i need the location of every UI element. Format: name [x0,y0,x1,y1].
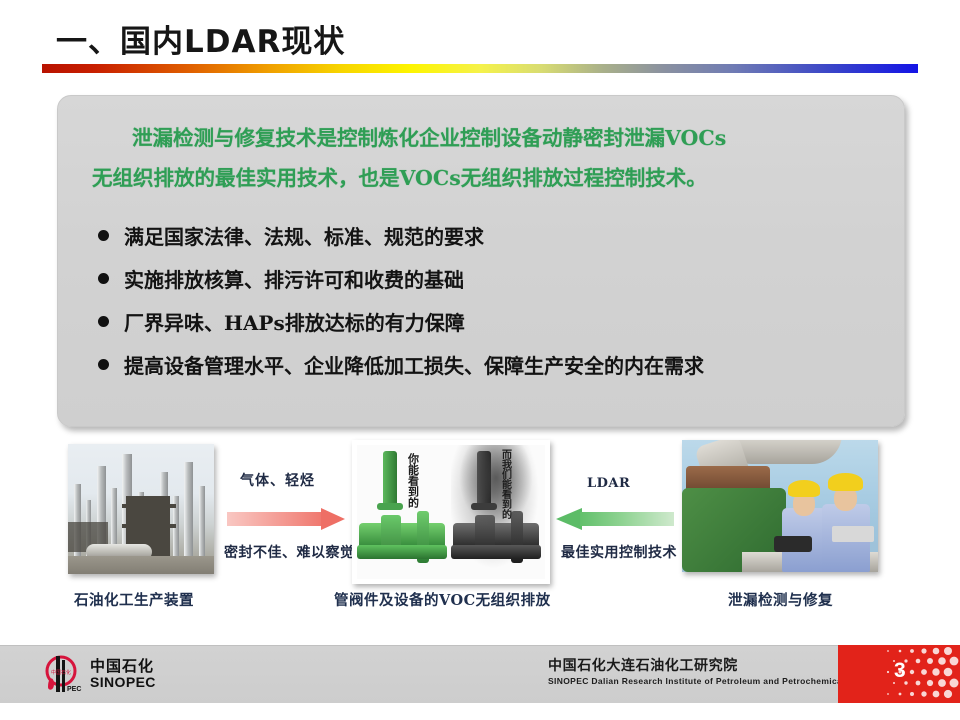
list-item: 满足国家法律、法规、标准、规范的要求 [98,214,888,257]
bullet-text: 提高设备管理水平、企业降低加工损失、保障生产安全的内在需求 [124,350,704,379]
slide-root: 一、国内LDAR现状 泄漏检测与修复技术是控制炼化企业控制设备动静密封泄漏VOC… [0,0,960,720]
intro-line-1: 泄漏检测与修复技术是控制炼化企业控制设备动静密封泄漏VOCs [132,126,726,150]
bullet-text: 厂界异味、HAPs排放达标的有力保障 [124,307,465,336]
valve-image: 你能看到的 而我们能看到的 [357,445,545,579]
refinery-photo [68,444,214,574]
list-item: 实施排放核算、排污许可和收费的基础 [98,257,888,300]
sinopec-emblem-icon: 中国石化 PEC [40,654,82,694]
bullet-dot-icon [98,359,109,370]
list-item: 提高设备管理水平、企业降低加工损失、保障生产安全的内在需求 [98,343,888,386]
institute-name-en: SINOPEC Dalian Research Institute of Pet… [548,676,850,686]
bullet-text: 实施排放核算、排污许可和收费的基础 [124,264,464,293]
inspection-photo [682,440,878,572]
arrow-right-top-label: 气体、轻烃 [240,470,315,490]
arrow-left-bottom-label: 最佳实用控制技术 [561,542,677,562]
arrow-left-top-label: LDAR [587,476,630,491]
valve-leak-half: 而我们能看到的 [451,445,545,579]
refinery-image [68,444,214,574]
valve-right-text: 而我们能看到的 [499,449,510,519]
logo-text-cn: 中国石化 [90,655,154,676]
bullet-dot-icon [98,230,109,241]
page-number: 3 [894,659,906,683]
title-gradient-rule [42,64,918,73]
bullet-list: 满足国家法律、法规、标准、规范的要求 实施排放核算、排污许可和收费的基础 厂界异… [98,214,888,386]
svg-text:中国石化: 中国石化 [51,669,71,676]
valve-left-text: 你能看到的 [407,453,419,508]
intro-paragraph: 泄漏检测与修复技术是控制炼化企业控制设备动静密封泄漏VOCs 无组织排放的最佳实… [92,118,876,198]
arrow-right-bottom-label: 密封不佳、难以察觉 [224,542,355,562]
workers-image [682,440,878,572]
sinopec-logo: 中国石化 PEC 中国石化 SINOPEC [40,653,220,695]
footer-divider [0,645,960,646]
page-title: 一、国内LDAR现状 [56,16,345,61]
svg-text:PEC: PEC [67,686,81,693]
valve-visible-half: 你能看到的 [357,445,451,579]
institute-name-cn: 中国石化大连石油化工研究院 [548,655,738,675]
intro-line-2: 无组织排放的最佳实用技术，也是VOCs无组织排放过程控制技术。 [92,158,876,198]
arrow-right-icon [227,508,345,530]
slide-footer: 中国石化 PEC 中国石化 SINOPEC 中国石化大连石油化工研究院 SINO… [0,645,960,703]
bullet-text: 满足国家法律、法规、标准、规范的要求 [124,221,484,250]
caption-right: 泄漏检测与修复 [728,589,833,610]
valve-emission-photo: 你能看到的 而我们能看到的 [352,440,550,584]
list-item: 厂界异味、HAPs排放达标的有力保障 [98,300,888,343]
content-panel: 泄漏检测与修复技术是控制炼化企业控制设备动静密封泄漏VOCs 无组织排放的最佳实… [57,95,905,427]
caption-middle: 管阀件及设备的VOC无组织排放 [334,589,551,610]
arrow-left-icon [556,508,674,530]
process-diagram: 气体、轻烃 密封不佳、难以察觉 你能看到的 [0,432,960,617]
bullet-dot-icon [98,316,109,327]
logo-text-en: SINOPEC [90,674,156,690]
page-number-badge: 3 [838,645,960,703]
bullet-dot-icon [98,273,109,284]
caption-left: 石油化工生产装置 [74,589,194,610]
